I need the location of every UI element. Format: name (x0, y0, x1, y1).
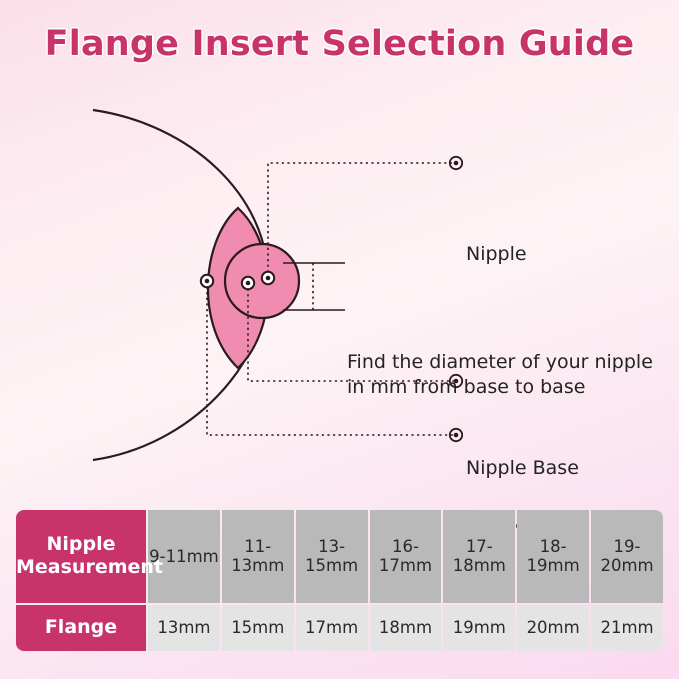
label-nipple-base: Nipple Base (466, 457, 579, 479)
measurement-instruction-text: Find the diameter of your nipple in mm f… (347, 350, 667, 400)
flange-size-table: Nipple Measurement 9-11mm 11-13mm 13-15m… (14, 508, 665, 653)
page-title: Flange Insert Selection Guide (0, 24, 679, 64)
row-header-line-1: Nipple (46, 533, 115, 555)
flange-cell: 18mm (370, 605, 442, 651)
flange-cell: 13mm (148, 605, 220, 651)
measurement-cell: 11-13mm (222, 510, 294, 603)
table-row-nipple-measurement: Nipple Measurement 9-11mm 11-13mm 13-15m… (16, 510, 663, 603)
row-header-flange: Flange (16, 605, 146, 651)
breast-anatomy-diagram: Nipple Nipple Base Areola Find the diame… (0, 90, 679, 490)
measurement-cell: 17-18mm (443, 510, 515, 603)
measurement-cell: 19-20mm (591, 510, 663, 603)
measurement-cell: 16-17mm (370, 510, 442, 603)
measurement-cell: 13-15mm (296, 510, 368, 603)
row-header-nipple-measurement: Nipple Measurement (16, 510, 146, 603)
areola-marker-icon (201, 275, 213, 287)
diagram-svg (0, 90, 679, 490)
flange-cell: 19mm (443, 605, 515, 651)
nipple-base-marker-icon (242, 277, 254, 289)
row-header-line-2: Measurement (16, 556, 163, 578)
measurement-cell: 9-11mm (148, 510, 220, 603)
label-nipple: Nipple (466, 243, 527, 265)
flange-cell: 17mm (296, 605, 368, 651)
nipple-leader-line (268, 163, 456, 278)
flange-size-table-wrapper: Nipple Measurement 9-11mm 11-13mm 13-15m… (14, 508, 665, 653)
nipple-marker-icon (262, 272, 274, 284)
measurement-cell: 18-19mm (517, 510, 589, 603)
flange-cell: 15mm (222, 605, 294, 651)
flange-cell: 20mm (517, 605, 589, 651)
table-row-flange: Flange 13mm 15mm 17mm 18mm 19mm 20mm 21m… (16, 605, 663, 651)
flange-cell: 21mm (591, 605, 663, 651)
